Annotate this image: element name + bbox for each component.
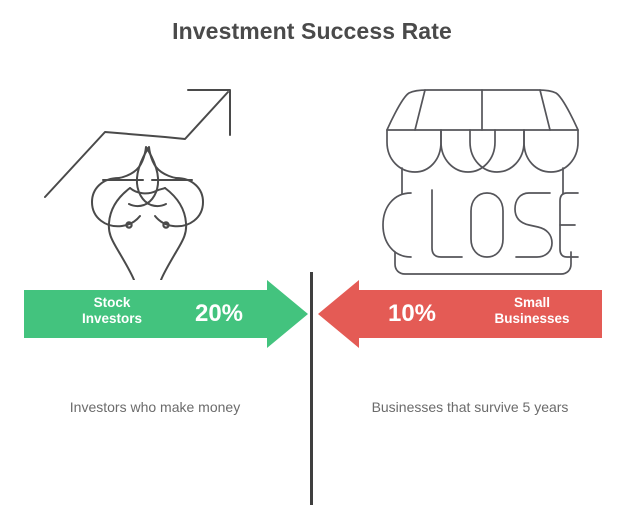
small-businesses-arrow: 10% Small Businesses: [318, 278, 608, 350]
stock-investors-label-line2: Investors: [82, 311, 142, 326]
left-caption: Investors who make money: [10, 399, 300, 415]
center-divider: [310, 272, 313, 505]
small-businesses-label-line2: Businesses: [494, 311, 569, 326]
stock-investors-arrow: Stock Investors 20%: [18, 278, 310, 350]
bull-market-icon: [40, 75, 255, 280]
page-title: Investment Success Rate: [0, 18, 624, 45]
right-caption: Businesses that survive 5 years: [325, 399, 615, 415]
closed-shop-icon: [375, 80, 590, 280]
small-businesses-label: Small Businesses: [476, 295, 588, 327]
infographic-root: Investment Success Rate: [0, 0, 624, 513]
stock-investors-label: Stock Investors: [60, 295, 164, 327]
small-businesses-percent: 10%: [366, 300, 458, 328]
stock-investors-percent: 20%: [173, 300, 265, 328]
small-businesses-label-line1: Small: [514, 295, 550, 310]
stock-investors-label-line1: Stock: [94, 295, 131, 310]
